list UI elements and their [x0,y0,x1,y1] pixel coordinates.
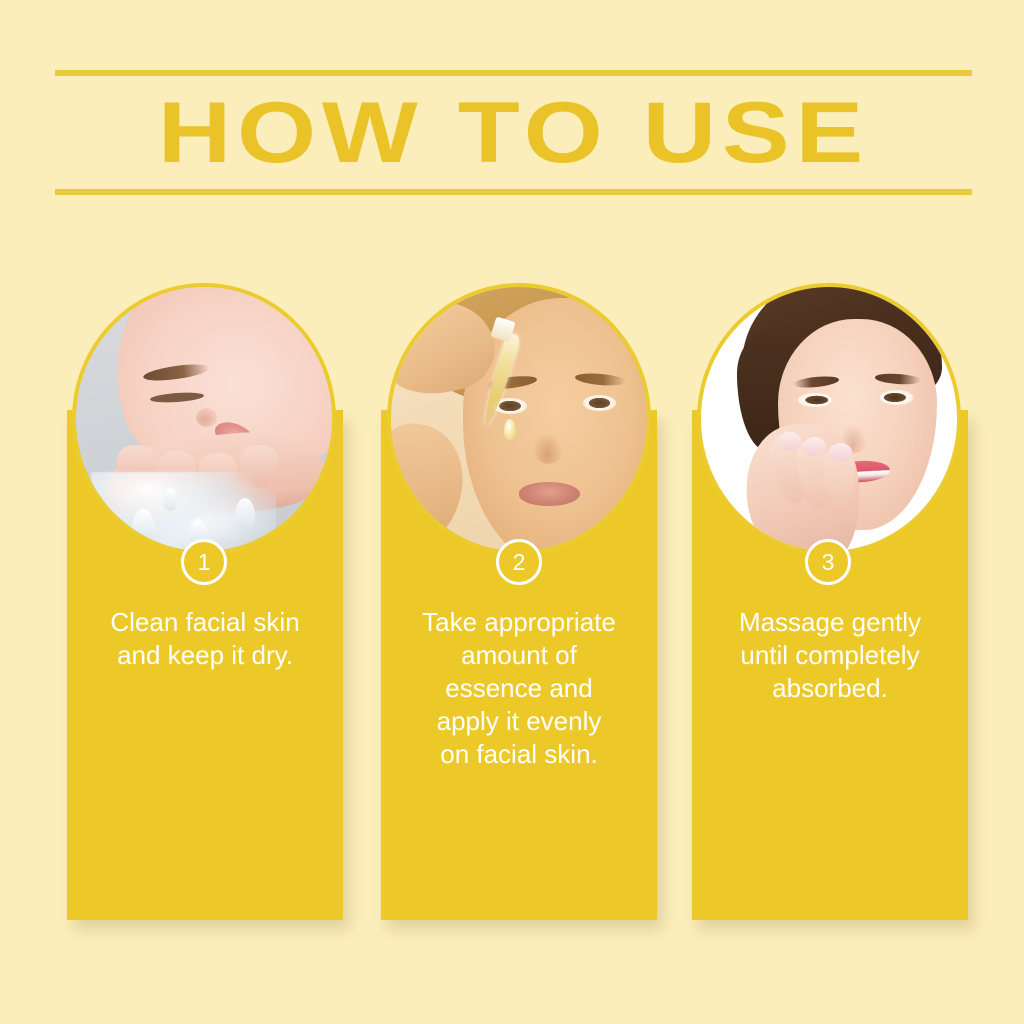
step-number-badge-3: 3 [805,539,851,585]
step-caption-3: Massage gently until completely absorbed… [692,606,968,705]
woman-applying-serum-illustration [391,287,647,551]
step-number-badge-2: 2 [496,539,542,585]
how-to-use-poster: HOW TO USE [0,0,1024,1024]
step-image-1 [72,283,336,555]
steps-container: 1 Clean facial skin and keep it dry. [0,0,1024,1024]
step-image-3 [697,283,961,555]
step-caption-1: Clean facial skin and keep it dry. [67,606,343,672]
step-number-badge-1: 1 [181,539,227,585]
woman-massaging-cheek-illustration [701,287,957,551]
step-caption-2: Take appropriate amount of essence and a… [381,606,657,771]
step-image-2 [387,283,651,555]
woman-washing-face-illustration [76,287,332,551]
